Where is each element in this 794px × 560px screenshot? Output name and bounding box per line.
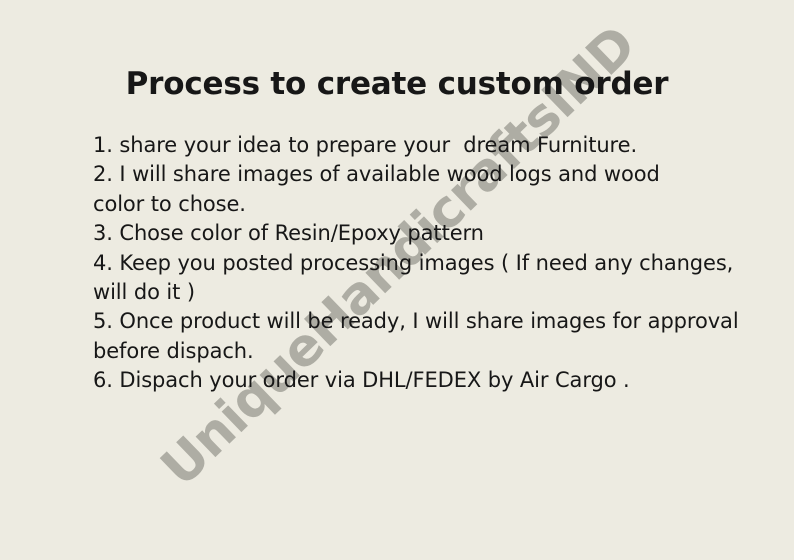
step-line: color to chose. (93, 190, 753, 219)
step-line: 1. share your idea to prepare your dream… (93, 131, 753, 160)
step-line: 3. Chose color of Resin/Epoxy pattern (93, 219, 753, 248)
step-line: 6. Dispach your order via DHL/FEDEX by A… (93, 366, 753, 395)
step-line: before dispach. (93, 337, 753, 366)
process-steps-list: 1. share your idea to prepare your dream… (93, 131, 753, 396)
page-title: Process to create custom order (0, 66, 794, 102)
step-line: will do it ) (93, 278, 753, 307)
slide-content: Process to create custom order 1. share … (0, 0, 794, 560)
step-line: 2. I will share images of available wood… (93, 160, 753, 189)
step-line: 5. Once product will be ready, I will sh… (93, 307, 753, 336)
step-line: 4. Keep you posted processing images ( I… (93, 249, 753, 278)
slide-canvas: UniqueHandicraftsIND Process to create c… (0, 0, 794, 560)
